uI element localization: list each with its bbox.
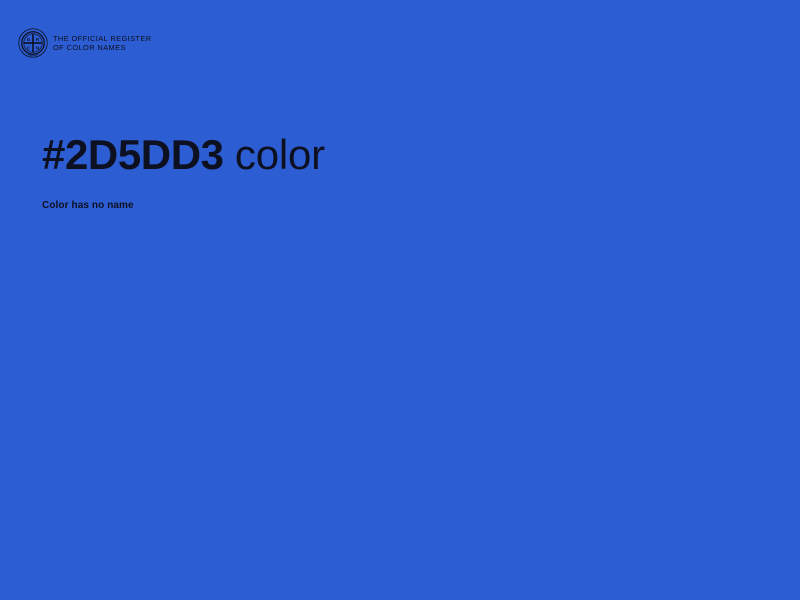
hex-code-value: #2D5DD3 [42, 131, 224, 178]
color-name-status: Color has no name [42, 199, 134, 212]
brand-wordmark-line2: OF COLOR NAMES [53, 43, 151, 52]
page-title-suffix: color [235, 131, 325, 178]
svg-text:O: O [27, 37, 31, 42]
svg-text:C: C [27, 45, 31, 50]
brand-wordmark-line1: THE OFFICIAL REGISTER [53, 34, 151, 43]
brand-wordmark: THE OFFICIAL REGISTER OF COLOR NAMES [53, 34, 151, 52]
site-brand[interactable]: O R C N THE OFFICIAL REGISTER OF COLOR N… [18, 28, 151, 58]
page-title: #2D5DD3 color [42, 130, 325, 180]
color-page: O R C N THE OFFICIAL REGISTER OF COLOR N… [0, 0, 800, 600]
register-seal-icon: O R C N [18, 28, 48, 58]
svg-text:R: R [36, 37, 40, 42]
svg-text:N: N [36, 45, 39, 50]
